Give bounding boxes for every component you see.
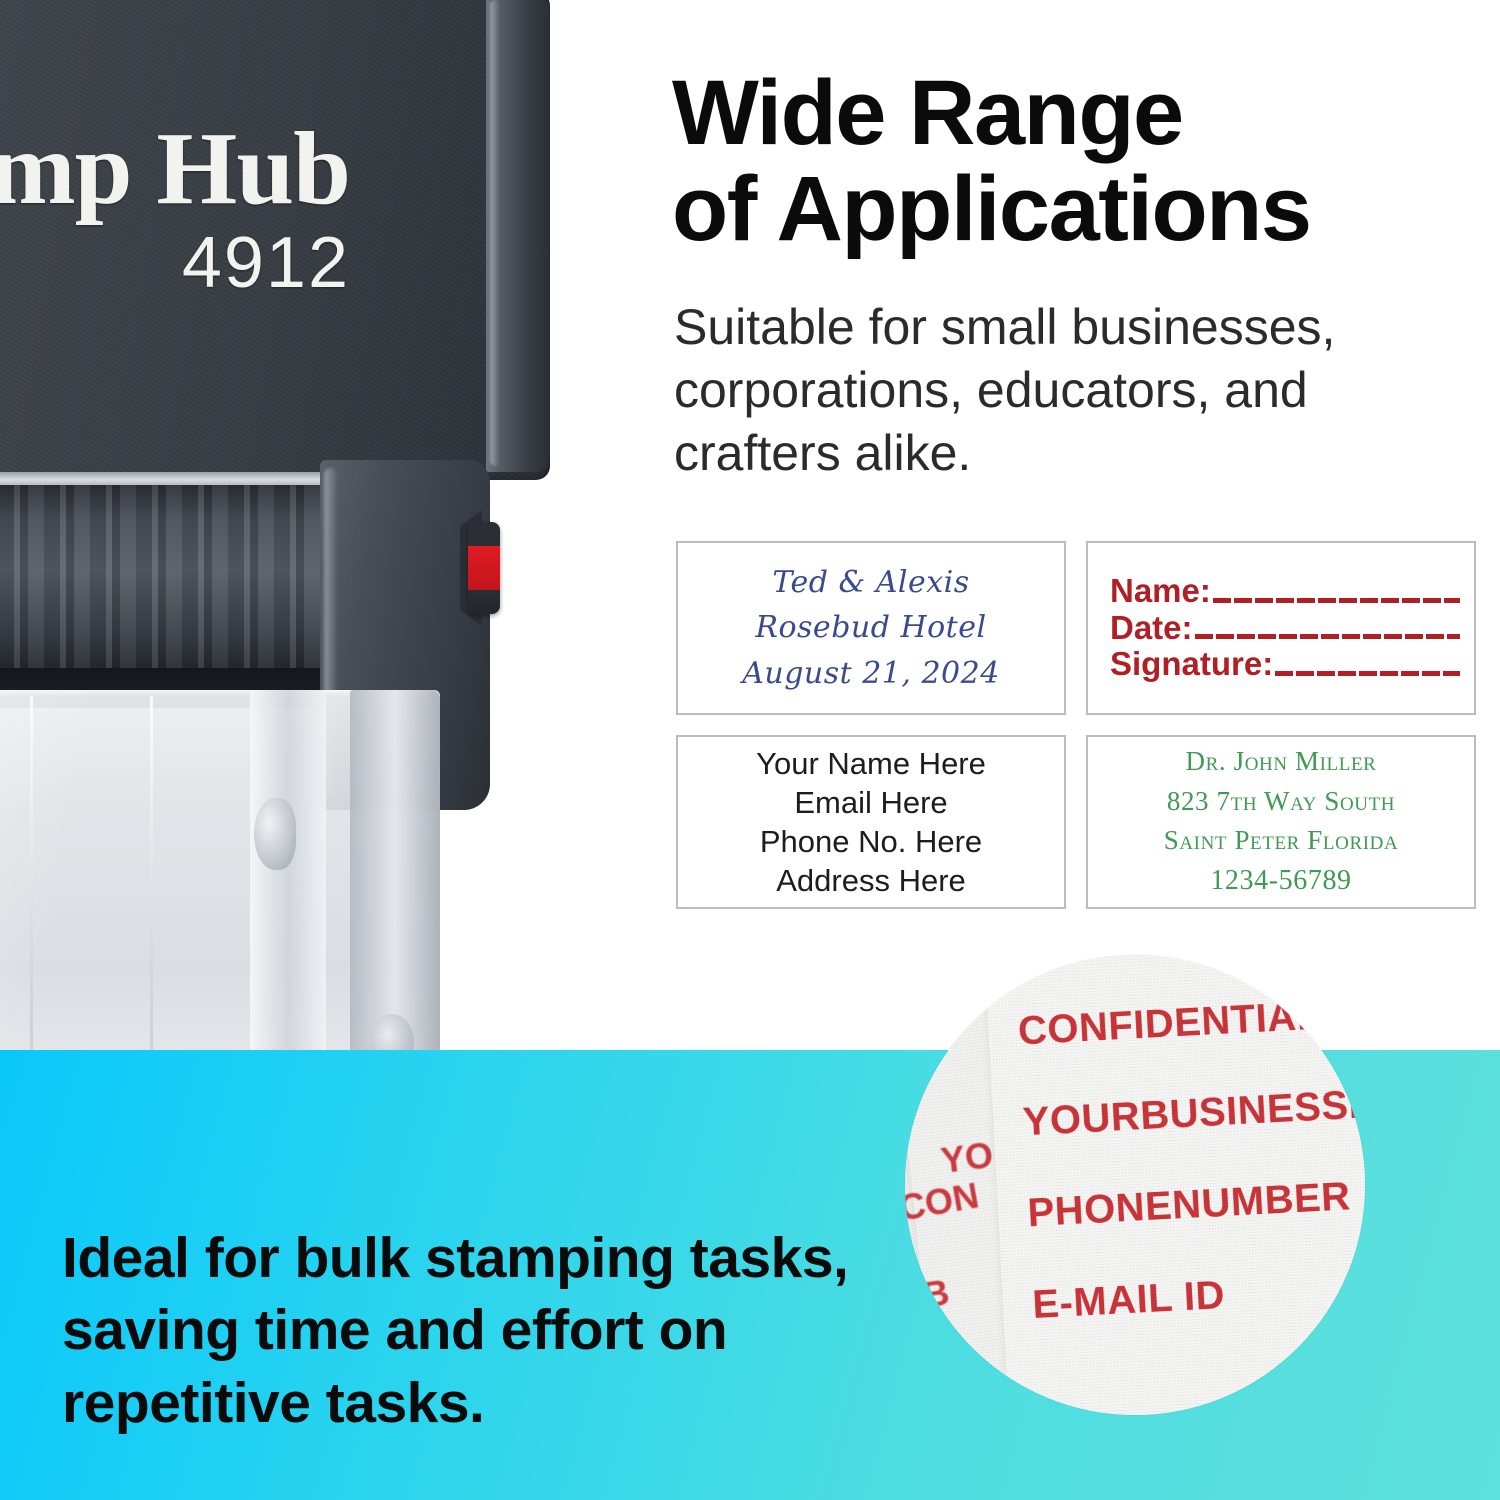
headline: Wide Range of Applications: [672, 66, 1462, 257]
sample-contact-details-stamp: Your Name Here Email Here Phone No. Here…: [676, 735, 1066, 909]
sample-green-address-stamp: Dr. John Miller 823 7th Way South Saint …: [1086, 735, 1476, 909]
sample-line: Your Name Here: [756, 744, 986, 783]
clear-base-column: [250, 690, 326, 1092]
sample-line-number: 1234-56789: [1210, 861, 1351, 902]
subheadline: Suitable for small businesses, corporati…: [674, 296, 1434, 485]
stamp-sample-grid: Ted & Alexis Rosebud Hotel August 21, 20…: [676, 541, 1476, 913]
sample-line: Dr. John Miller: [1186, 742, 1377, 781]
red-release-tab-icon: [468, 522, 500, 614]
sample-line: Saint Peter Florida: [1164, 821, 1399, 860]
form-row-name: Name:: [1110, 573, 1460, 610]
form-rule-line: [1275, 671, 1460, 676]
brand-name: mp Hub: [0, 120, 350, 219]
clear-base-rib: [30, 696, 33, 1084]
sample-line: August 21, 2024: [742, 651, 1000, 697]
form-label: Date:: [1110, 610, 1193, 647]
headline-line-2: of Applications: [672, 162, 1462, 258]
headline-line-1: Wide Range: [672, 62, 1183, 164]
stamped-paper-circle-inset: YO CON B CONFIDENTIAL YOURBUSINESSNAME P…: [905, 955, 1365, 1415]
sample-name-date-signature-stamp: Name: Date: Signature:: [1086, 541, 1476, 715]
sample-line: 823 7th Way South: [1167, 782, 1395, 821]
form-label: Name:: [1110, 573, 1211, 610]
sample-line: Ted & Alexis: [772, 560, 969, 606]
brand-model-number: 4912: [0, 229, 350, 297]
clear-base-rib: [150, 696, 153, 1084]
form-row-date: Date:: [1110, 610, 1460, 647]
form-rule-line: [1195, 634, 1460, 639]
form-label: Signature:: [1110, 646, 1273, 683]
form-rule-line: [1213, 598, 1460, 603]
sample-wedding-script-stamp: Ted & Alexis Rosebud Hotel August 21, 20…: [676, 541, 1066, 715]
banner-text: Ideal for bulk stamping tasks, saving ti…: [62, 1222, 892, 1439]
stamped-ink-text: CONFIDENTIAL YOURBUSINESSNAME PHONENUMBE…: [1016, 964, 1365, 1351]
stamp-body-highlight: [490, 0, 500, 466]
self-inking-stamp-photo: mp Hub 4912: [0, 0, 640, 1140]
sample-line: Phone No. Here: [760, 822, 982, 861]
clear-base-knob: [254, 798, 296, 870]
sample-line: Address Here: [776, 861, 966, 900]
product-marketing-image: mp Hub 4912 Wide Range of Applications S…: [0, 0, 1500, 1500]
sample-line: Rosebud Hotel: [755, 605, 986, 651]
stamp-branding: mp Hub 4912: [0, 120, 350, 297]
form-row-signature: Signature:: [1110, 646, 1460, 683]
sample-line: Email Here: [794, 783, 947, 822]
